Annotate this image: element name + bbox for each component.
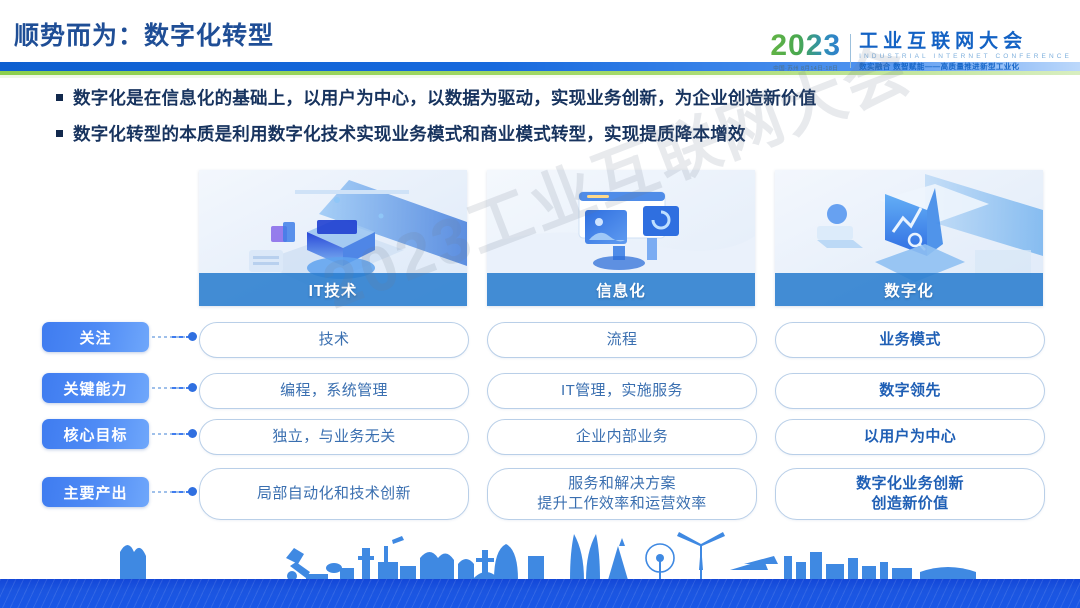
cell-r3c1[interactable]: 独立，与业务无关 xyxy=(199,419,469,455)
row-label-focus[interactable]: 关注 xyxy=(42,322,149,352)
bullet-square-icon xyxy=(56,130,63,137)
cell-r4c2[interactable]: 服务和解决方案 提升工作效率和运营效率 xyxy=(487,468,757,520)
connector-dot-icon xyxy=(188,383,197,392)
bullet-text: 数字化转型的本质是利用数字化技术实现业务模式和商业模式转型，实现提质降本增效 xyxy=(73,121,746,147)
row-connector xyxy=(152,382,199,394)
logo-date-line: 中国·苏州 8月14日-18日 xyxy=(773,64,838,72)
cell-r4c3[interactable]: 数字化业务创新 创造新价值 xyxy=(775,468,1045,520)
footer-graphic xyxy=(0,530,1080,608)
bullet-list: 数字化是在信息化的基础上，以用户为中心，以数据为驱动，实现业务创新，为企业创造新… xyxy=(56,85,1066,157)
cell-r1c3[interactable]: 业务模式 xyxy=(775,322,1045,358)
connector-dot-icon xyxy=(188,332,197,341)
cell-line: 提升工作效率和运营效率 xyxy=(537,494,706,514)
cell-r4c1[interactable]: 局部自动化和技术创新 xyxy=(199,468,469,520)
cell-r2c1[interactable]: 编程，系统管理 xyxy=(199,373,469,409)
connector-dot-icon xyxy=(188,429,197,438)
column-card-digitalization: 数字化 xyxy=(775,170,1043,306)
cell-r3c3[interactable]: 以用户为中心 xyxy=(775,419,1045,455)
logo-text-block: 工业互联网大会 INDUSTRIAL INTERNET CONFERENCE 数… xyxy=(859,31,1072,72)
conference-logo: 2023 中国·苏州 8月14日-18日 工业互联网大会 INDUSTRIAL … xyxy=(770,26,1072,76)
row-label-key-capability[interactable]: 关键能力 xyxy=(42,373,149,403)
row-connector xyxy=(152,428,199,440)
cell-line: 创造新价值 xyxy=(856,494,964,514)
bullet-item: 数字化转型的本质是利用数字化技术实现业务模式和商业模式转型，实现提质降本增效 xyxy=(56,121,1066,147)
cell-r2c2[interactable]: IT管理，实施服务 xyxy=(487,373,757,409)
logo-year: 2023 xyxy=(770,31,841,61)
cell-line: 数字化业务创新 xyxy=(856,474,964,494)
row-connector xyxy=(152,486,199,498)
logo-name-cn: 工业互联网大会 xyxy=(859,31,1072,52)
slide-root: 顺势而为：数字化转型 2023 中国·苏州 8月14日-18日 工业互联网大会 … xyxy=(0,0,1080,608)
bullet-item: 数字化是在信息化的基础上，以用户为中心，以数据为驱动，实现业务创新，为企业创造新… xyxy=(56,85,1066,111)
cell-r1c2[interactable]: 流程 xyxy=(487,322,757,358)
sea-band xyxy=(0,579,1080,608)
row-connector xyxy=(152,331,199,343)
logo-name-en: INDUSTRIAL INTERNET CONFERENCE xyxy=(859,52,1072,61)
column-card-it: IT技术 xyxy=(199,170,467,306)
cell-line: 服务和解决方案 xyxy=(537,474,706,494)
logo-year-block: 2023 中国·苏州 8月14日-18日 xyxy=(770,31,850,72)
bullet-square-icon xyxy=(56,94,63,101)
connector-dot-icon xyxy=(188,487,197,496)
card-caption: 信息化 xyxy=(487,273,755,306)
logo-slogan: 数实融合 数智赋能——高质量推进新型工业化 xyxy=(859,61,1072,72)
bullet-text: 数字化是在信息化的基础上，以用户为中心，以数据为驱动，实现业务创新，为企业创造新… xyxy=(73,85,816,111)
column-card-informatization: 信息化 xyxy=(487,170,755,306)
industrial-city-skyline-silhouette xyxy=(0,530,1080,580)
logo-divider xyxy=(850,34,851,68)
page-title: 顺势而为：数字化转型 xyxy=(14,16,274,52)
card-caption: 数字化 xyxy=(775,273,1043,306)
row-label-main-output[interactable]: 主要产出 xyxy=(42,477,149,507)
cell-r1c1[interactable]: 技术 xyxy=(199,322,469,358)
cell-r2c3[interactable]: 数字领先 xyxy=(775,373,1045,409)
row-label-core-goal[interactable]: 核心目标 xyxy=(42,419,149,449)
cell-r3c2[interactable]: 企业内部业务 xyxy=(487,419,757,455)
card-caption: IT技术 xyxy=(199,273,467,306)
